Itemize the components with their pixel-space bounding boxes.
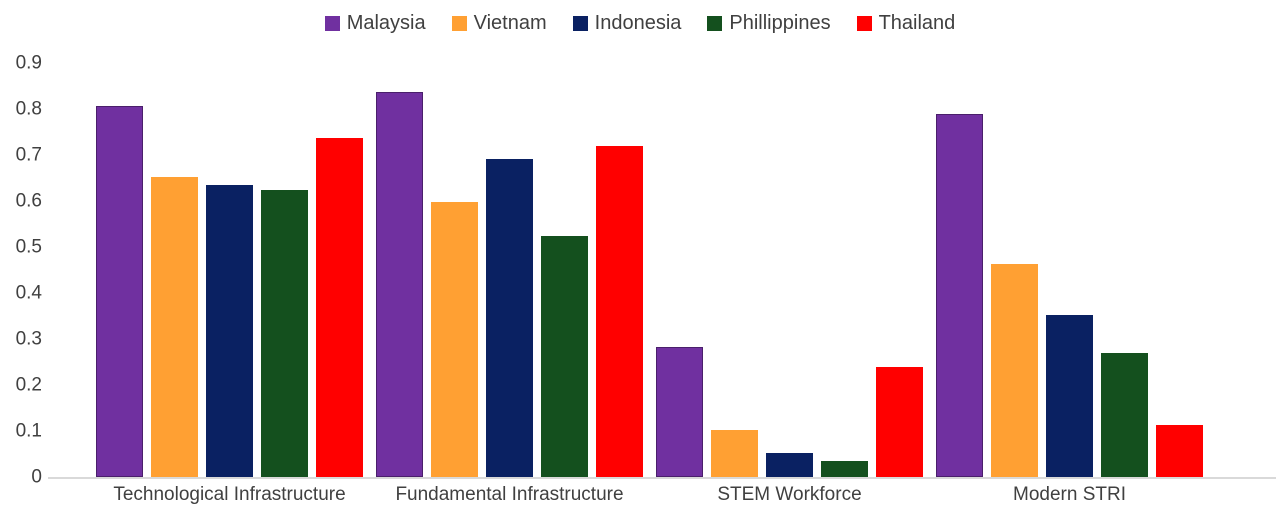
legend-item-phillippines[interactable]: Phillippines [707, 13, 830, 33]
bar-vietnam-3[interactable] [711, 430, 758, 477]
y-axis-tick-label: 0.3 [16, 330, 42, 349]
x-axis-category-label: Modern STRI [920, 484, 1220, 506]
legend-label: Thailand [879, 13, 956, 33]
y-axis: 00.10.20.30.40.50.60.70.80.9 [0, 44, 50, 484]
bar-thailand-4[interactable] [1156, 425, 1203, 477]
bar-group-4 [936, 44, 1211, 477]
bar-phillippines-1[interactable] [261, 190, 308, 478]
y-axis-tick-label: 0.5 [16, 238, 42, 257]
bar-indonesia-2[interactable] [486, 159, 533, 477]
legend-label: Malaysia [347, 13, 426, 33]
legend-item-vietnam[interactable]: Vietnam [452, 13, 547, 33]
y-axis-tick-label: 0.8 [16, 100, 42, 119]
y-axis-tick-label: 0 [31, 468, 42, 487]
x-axis-category-label: STEM Workforce [640, 484, 940, 506]
bar-vietnam-1[interactable] [151, 177, 198, 477]
bar-phillippines-4[interactable] [1101, 353, 1148, 477]
legend-swatch-icon [573, 16, 588, 31]
bars-area [48, 44, 1276, 477]
y-axis-tick-label: 0.7 [16, 146, 42, 165]
bar-malaysia-3[interactable] [656, 347, 703, 477]
legend-label: Indonesia [595, 13, 682, 33]
x-axis-category-label: Fundamental Infrastructure [360, 484, 660, 506]
legend-item-indonesia[interactable]: Indonesia [573, 13, 682, 33]
legend-label: Phillippines [729, 13, 830, 33]
bar-chart: MalaysiaVietnamIndonesiaPhillippinesThai… [0, 0, 1280, 529]
bar-thailand-3[interactable] [876, 367, 923, 477]
legend-swatch-icon [857, 16, 872, 31]
y-axis-tick-label: 0.9 [16, 54, 42, 73]
legend-item-malaysia[interactable]: Malaysia [325, 13, 426, 33]
bar-phillippines-2[interactable] [541, 236, 588, 477]
legend-swatch-icon [707, 16, 722, 31]
bar-group-1 [96, 44, 371, 477]
x-axis-category-label: Technological Infrastructure [80, 484, 380, 506]
bar-vietnam-4[interactable] [991, 264, 1038, 477]
bar-vietnam-2[interactable] [431, 202, 478, 477]
bar-indonesia-4[interactable] [1046, 315, 1093, 477]
x-axis-baseline [48, 477, 1276, 479]
plot-area: 00.10.20.30.40.50.60.70.80.9 Technologic… [0, 44, 1280, 529]
bar-group-2 [376, 44, 651, 477]
y-axis-tick-label: 0.6 [16, 192, 42, 211]
bar-group-3 [656, 44, 931, 477]
bar-thailand-1[interactable] [316, 138, 363, 477]
bar-phillippines-3[interactable] [821, 461, 868, 477]
bar-malaysia-4[interactable] [936, 114, 983, 477]
y-axis-tick-label: 0.1 [16, 422, 42, 441]
bar-thailand-2[interactable] [596, 146, 643, 477]
y-axis-tick-label: 0.4 [16, 284, 42, 303]
bar-malaysia-2[interactable] [376, 92, 423, 477]
x-axis: Technological InfrastructureFundamental … [48, 484, 1276, 524]
legend-label: Vietnam [474, 13, 547, 33]
legend-item-thailand[interactable]: Thailand [857, 13, 956, 33]
legend-swatch-icon [452, 16, 467, 31]
legend-swatch-icon [325, 16, 340, 31]
bar-indonesia-3[interactable] [766, 453, 813, 477]
y-axis-tick-label: 0.2 [16, 376, 42, 395]
bar-indonesia-1[interactable] [206, 185, 253, 477]
chart-legend: MalaysiaVietnamIndonesiaPhillippinesThai… [0, 8, 1280, 38]
bar-malaysia-1[interactable] [96, 106, 143, 477]
